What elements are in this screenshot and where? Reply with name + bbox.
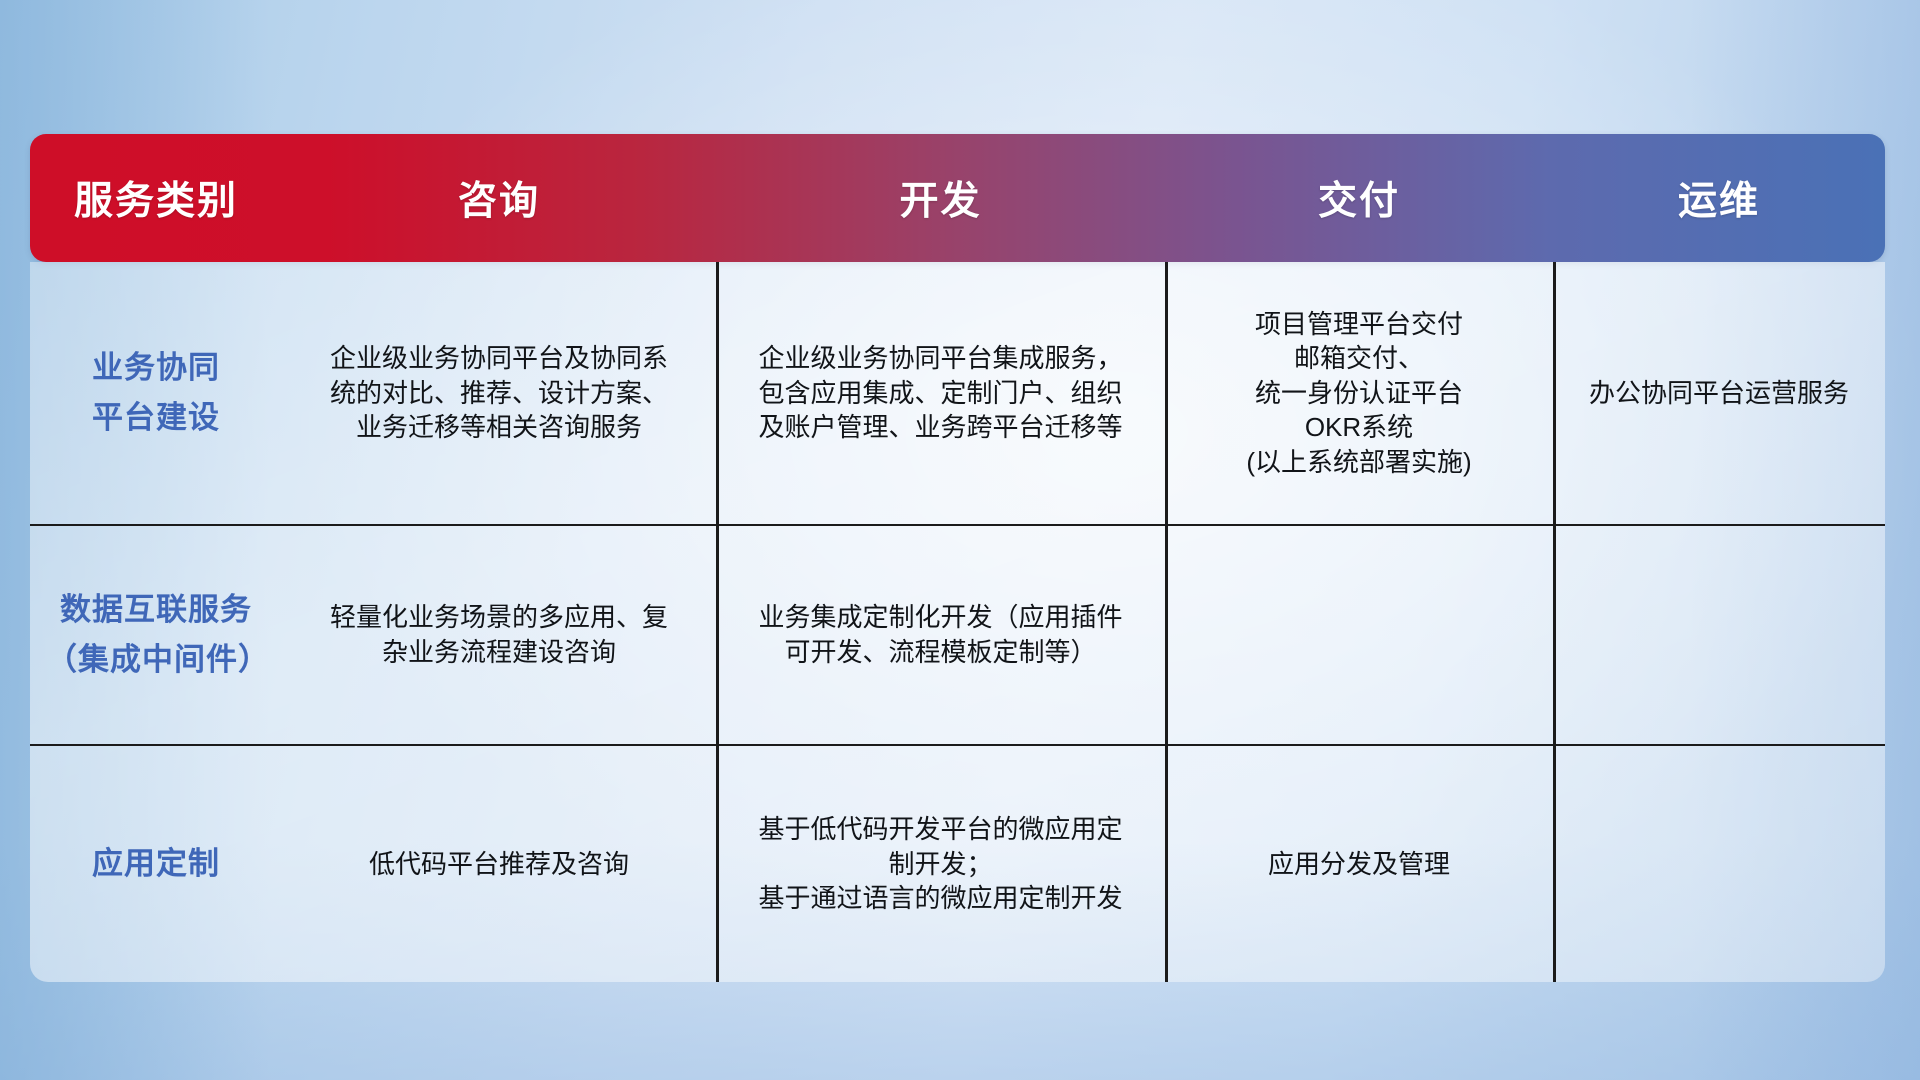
cell-text: 项目管理平台交付邮箱交付、统一身份认证平台OKR系统(以上系统部署实施) <box>1246 307 1471 480</box>
service-matrix-table: 服务类别 咨询 开发 交付 运维 业务协同平台建设 企 <box>30 134 1885 982</box>
table-row: 应用定制 低代码平台推荐及咨询 基于低代码开发平台的微应用定制开发；基于通过语言… <box>30 746 1885 982</box>
cell-development: 基于低代码开发平台的微应用定制开发；基于通过语言的微应用定制开发 <box>716 746 1165 982</box>
cell-text: 轻量化业务场景的多应用、复杂业务流程建设咨询 <box>330 600 668 669</box>
cell-category: 业务协同平台建设 <box>30 262 282 524</box>
cell-operations <box>1553 526 1885 744</box>
cell-category: 数据互联服务（集成中间件） <box>30 526 282 744</box>
cell-consulting: 企业级业务协同平台及协同系统的对比、推荐、设计方案、业务迁移等相关咨询服务 <box>282 262 716 524</box>
cell-operations: 办公协同平台运营服务 <box>1553 262 1885 524</box>
cell-text: 低代码平台推荐及咨询 <box>369 847 629 882</box>
column-header-label: 服务类别 <box>74 170 238 226</box>
cell-text: 应用分发及管理 <box>1268 847 1450 882</box>
cell-delivery <box>1165 526 1553 744</box>
cell-consulting: 低代码平台推荐及咨询 <box>282 746 716 982</box>
cell-category: 应用定制 <box>30 746 282 982</box>
column-header-consulting: 咨询 <box>282 134 716 262</box>
column-header-label: 咨询 <box>458 170 540 226</box>
table-row: 业务协同平台建设 企业级业务协同平台及协同系统的对比、推荐、设计方案、业务迁移等… <box>30 262 1885 526</box>
cell-development: 业务集成定制化开发（应用插件可开发、流程模板定制等） <box>716 526 1165 744</box>
column-header-operations: 运维 <box>1553 134 1885 262</box>
column-header-label: 交付 <box>1318 170 1400 226</box>
cell-text: 基于低代码开发平台的微应用定制开发；基于通过语言的微应用定制开发 <box>758 812 1122 916</box>
cell-text: 应用定制 <box>92 839 220 889</box>
cell-delivery: 项目管理平台交付邮箱交付、统一身份认证平台OKR系统(以上系统部署实施) <box>1165 262 1553 524</box>
cell-text: 企业级业务协同平台集成服务，包含应用集成、定制门户、组织及账户管理、业务跨平台迁… <box>758 341 1122 445</box>
table-body: 业务协同平台建设 企业级业务协同平台及协同系统的对比、推荐、设计方案、业务迁移等… <box>30 262 1885 982</box>
cell-development: 企业级业务协同平台集成服务，包含应用集成、定制门户、组织及账户管理、业务跨平台迁… <box>716 262 1165 524</box>
cell-text: 数据互联服务（集成中间件） <box>46 585 266 685</box>
table-row: 数据互联服务（集成中间件） 轻量化业务场景的多应用、复杂业务流程建设咨询 业务集… <box>30 526 1885 746</box>
cell-text: 业务协同平台建设 <box>92 343 220 443</box>
cell-text: 企业级业务协同平台及协同系统的对比、推荐、设计方案、业务迁移等相关咨询服务 <box>330 341 668 445</box>
column-header-service-category: 服务类别 <box>30 134 282 262</box>
column-header-delivery: 交付 <box>1165 134 1553 262</box>
slide-canvas: 服务类别 咨询 开发 交付 运维 业务协同平台建设 企 <box>0 0 1920 1080</box>
cell-text: 业务集成定制化开发（应用插件可开发、流程模板定制等） <box>758 600 1122 669</box>
column-header-label: 运维 <box>1678 170 1760 226</box>
cell-consulting: 轻量化业务场景的多应用、复杂业务流程建设咨询 <box>282 526 716 744</box>
table-header-row: 服务类别 咨询 开发 交付 运维 <box>30 134 1885 262</box>
column-header-development: 开发 <box>716 134 1165 262</box>
cell-delivery: 应用分发及管理 <box>1165 746 1553 982</box>
cell-operations <box>1553 746 1885 982</box>
cell-text: 办公协同平台运营服务 <box>1589 376 1849 411</box>
column-header-label: 开发 <box>899 170 981 226</box>
